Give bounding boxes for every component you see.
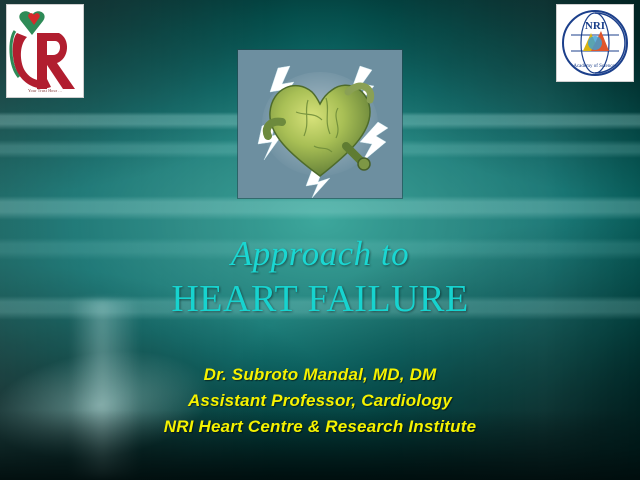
nri-academy-logo: NRI Academy of Sciences [556, 4, 634, 82]
presenter-institution: NRI Heart Centre & Research Institute [0, 414, 640, 440]
institution-logo-left: Your Trust Hour ... [6, 4, 84, 98]
logo-left-graphic [7, 5, 83, 97]
title-line-1: Approach to [0, 232, 640, 276]
title-line-2: HEART FAILURE [0, 276, 640, 322]
heart-illustration-graphic [238, 50, 402, 198]
logo-left-caption: Your Trust Hour ... [7, 88, 83, 93]
presenter-designation: Assistant Professor, Cardiology [0, 388, 640, 414]
svg-text:Academy of Sciences: Academy of Sciences [573, 64, 616, 69]
svg-text:NRI: NRI [585, 20, 605, 32]
presenter-info: Dr. Subroto Mandal, MD, DM Assistant Pro… [0, 362, 640, 440]
logo-right-graphic: NRI Academy of Sciences [557, 5, 633, 81]
presentation-slide: Your Trust Hour ... NRI Academy of Scien… [0, 0, 640, 480]
heart-with-lightning-illustration [238, 50, 402, 198]
slide-title: Approach to HEART FAILURE [0, 232, 640, 322]
presenter-name: Dr. Subroto Mandal, MD, DM [0, 362, 640, 388]
